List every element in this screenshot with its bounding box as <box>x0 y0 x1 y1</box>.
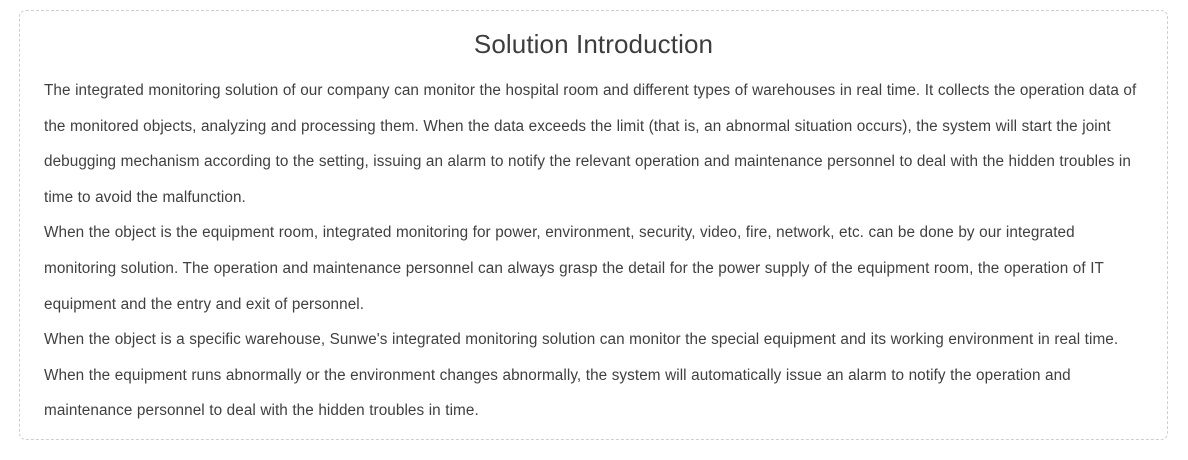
solution-introduction-body: The integrated monitoring solution of ou… <box>44 73 1143 429</box>
solution-introduction-panel: Solution Introduction The integrated mon… <box>19 10 1168 440</box>
paragraph-3: When the object is a specific warehouse,… <box>44 322 1143 429</box>
paragraph-2: When the object is the equipment room, i… <box>44 215 1143 322</box>
paragraph-1: The integrated monitoring solution of ou… <box>44 73 1143 215</box>
page-title: Solution Introduction <box>44 27 1143 61</box>
